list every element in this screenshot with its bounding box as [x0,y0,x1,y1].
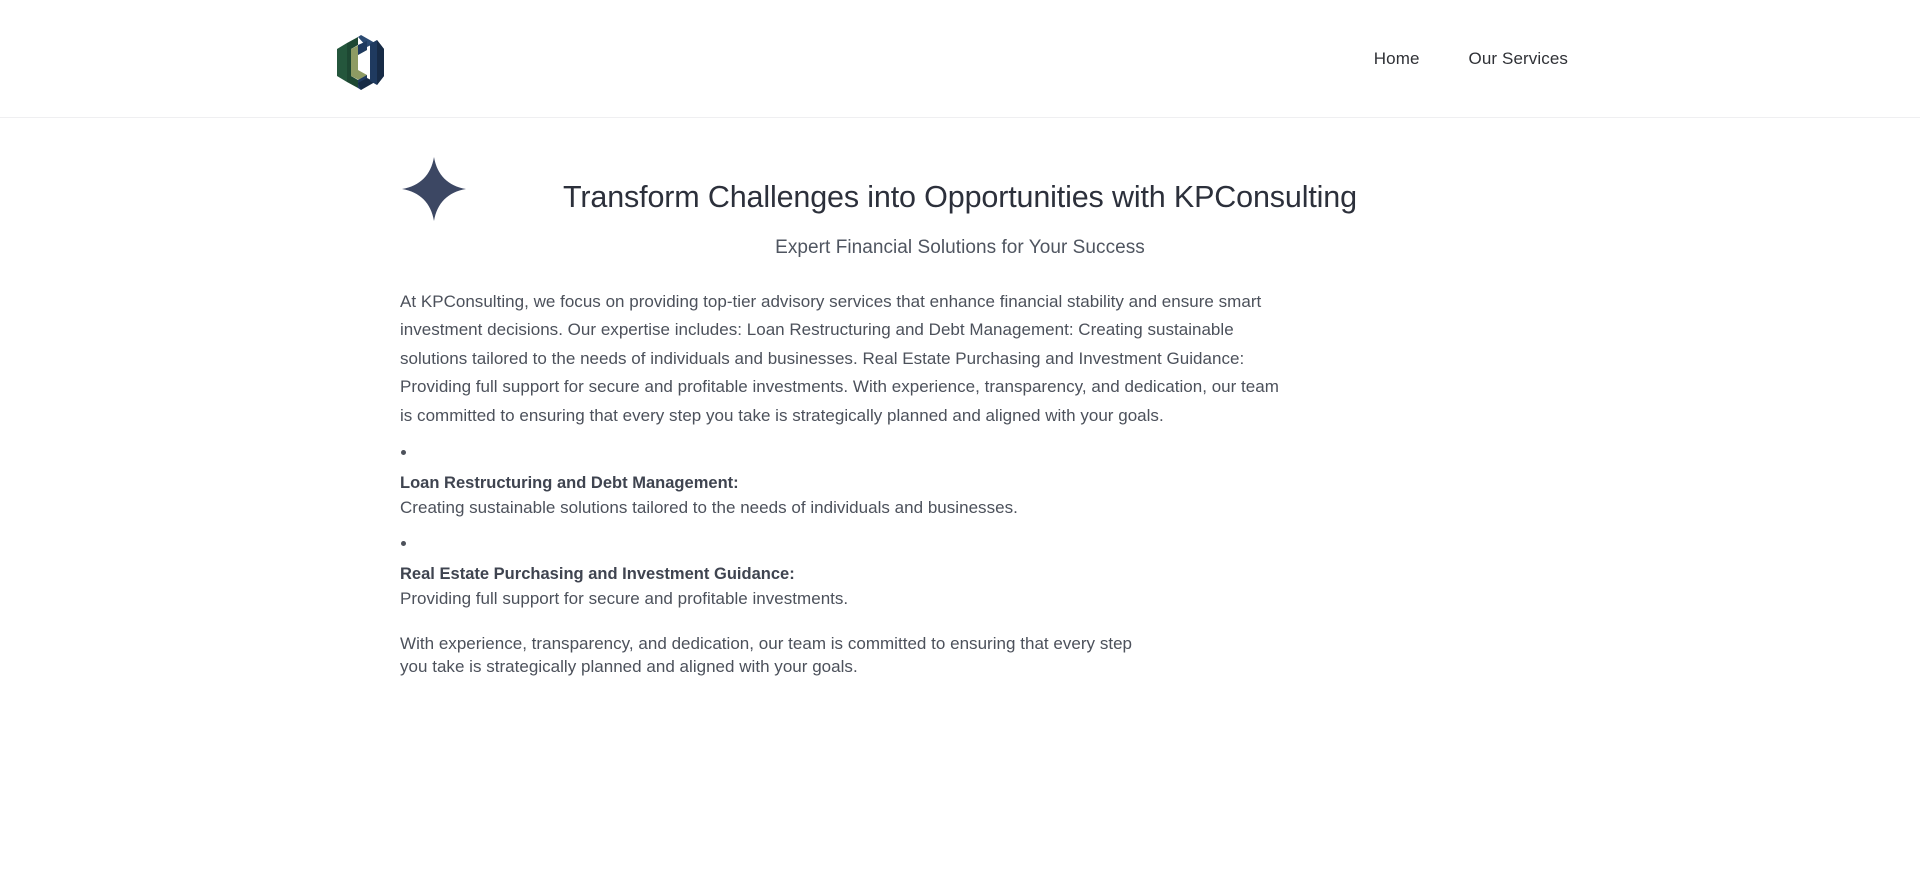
nav-link-our-services[interactable]: Our Services [1469,50,1568,67]
intro-paragraph: At KPConsulting, we focus on providing t… [400,288,1284,431]
brand-logo-icon[interactable] [337,35,384,90]
feature-title: Loan Restructuring and Debt Management: [400,472,1520,495]
list-item: Real Estate Purchasing and Investment Gu… [400,541,1520,610]
page-title: Transform Challenges into Opportunities … [400,178,1520,218]
bullet-icon [401,450,406,455]
main-navigation: Home Our Services [1374,0,1920,117]
hero-section: Transform Challenges into Opportunities … [400,118,1520,259]
content-container: Transform Challenges into Opportunities … [400,118,1520,678]
closing-paragraph: With experience, transparency, and dedic… [400,632,1150,678]
four-point-star-icon [400,155,468,223]
feature-list: Loan Restructuring and Debt Management: … [400,450,1520,610]
feature-description: Creating sustainable solutions tailored … [400,496,1040,519]
list-item: Loan Restructuring and Debt Management: … [400,450,1520,519]
nav-link-home[interactable]: Home [1374,50,1420,67]
bullet-icon [401,541,406,546]
page-subtitle: Expert Financial Solutions for Your Succ… [400,237,1520,259]
site-header: Home Our Services [0,0,1920,118]
feature-description: Providing full support for secure and pr… [400,587,1040,610]
page-main: Transform Challenges into Opportunities … [0,118,1920,678]
feature-title: Real Estate Purchasing and Investment Gu… [400,563,1520,586]
